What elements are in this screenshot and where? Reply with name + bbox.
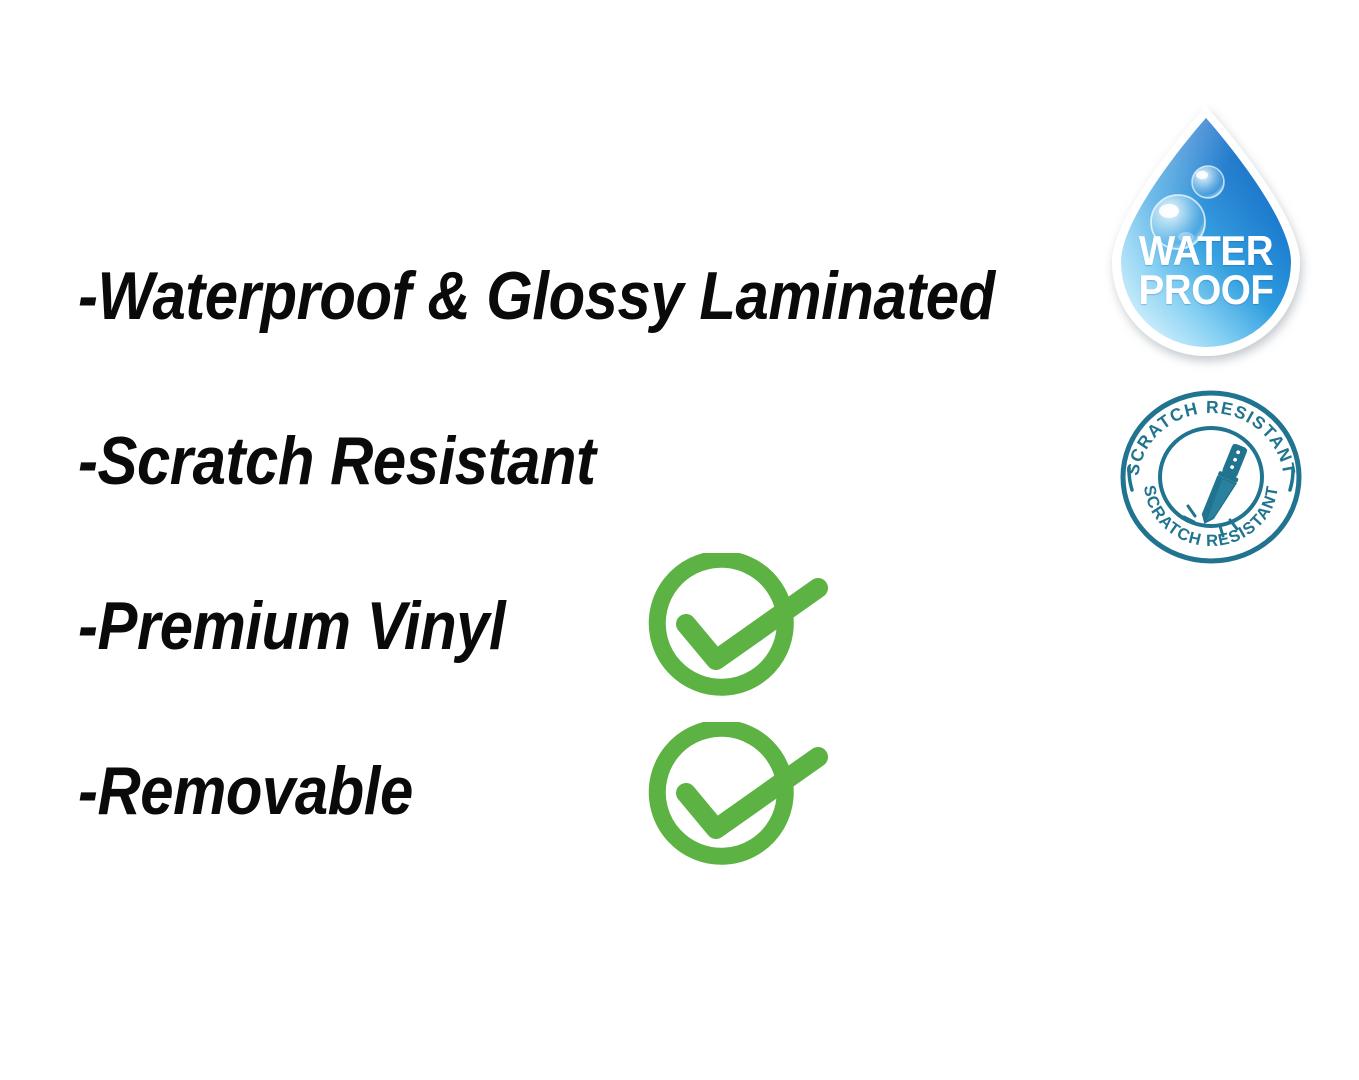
check-circle-icon bbox=[638, 722, 836, 874]
waterproof-badge: WATER PROOF bbox=[1104, 104, 1308, 352]
checkmark-removable bbox=[638, 722, 836, 874]
stamp-top-text: SCRATCH RESISTANT bbox=[1122, 397, 1299, 477]
feature-item-premium-vinyl: -Premium Vinyl bbox=[78, 592, 505, 660]
feature-item-scratch-resistant: -Scratch Resistant bbox=[78, 427, 596, 495]
check-circle-icon bbox=[638, 553, 836, 705]
feature-item-removable: -Removable bbox=[78, 757, 413, 825]
scratch-resistant-badge: SCRATCH RESISTANT SCRATCH RESISTANT bbox=[1116, 386, 1306, 568]
feature-item-waterproof-glossy-laminated: -Waterproof & Glossy Laminated bbox=[78, 262, 995, 330]
bubble-small-icon bbox=[1192, 166, 1224, 198]
knife-stamp-icon: SCRATCH RESISTANT SCRATCH RESISTANT bbox=[1116, 386, 1306, 568]
water-droplet-icon bbox=[1104, 104, 1308, 352]
checkmark-premium-vinyl bbox=[638, 553, 836, 705]
bubble-large-icon bbox=[1151, 195, 1205, 249]
product-features-graphic: -Waterproof & Glossy Laminated -Scratch … bbox=[0, 0, 1359, 1080]
